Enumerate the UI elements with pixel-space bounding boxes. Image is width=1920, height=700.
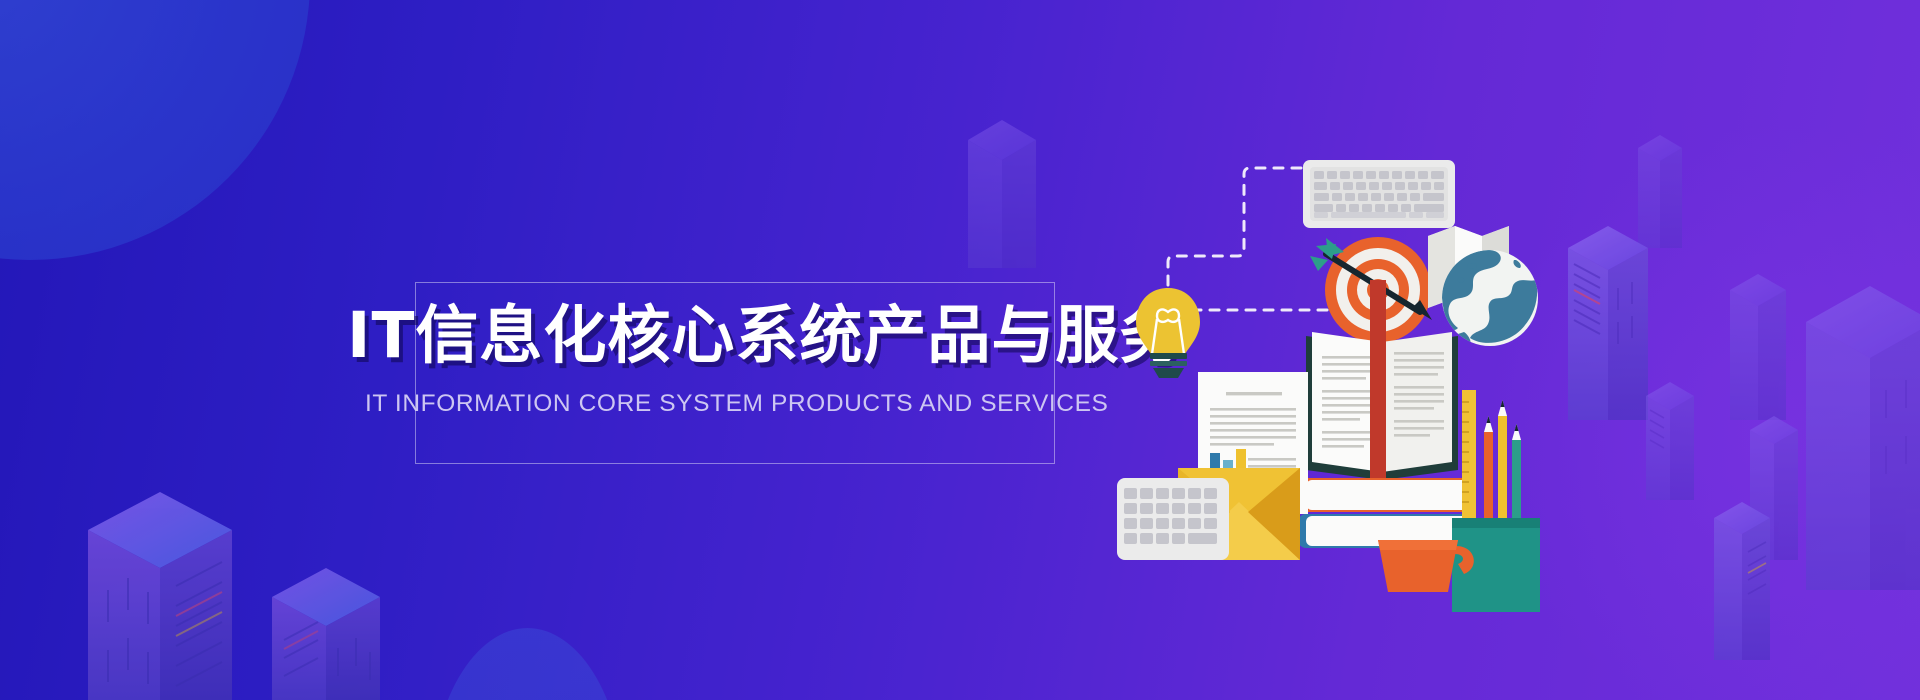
pencil-teal [1512, 424, 1521, 524]
building-left-short [272, 568, 380, 700]
building-right-b [1568, 226, 1648, 420]
open-book-icon [1306, 280, 1458, 492]
building-right-g [1714, 502, 1770, 660]
lightbulb-icon [1136, 288, 1200, 378]
pencil-red [1484, 416, 1493, 524]
keyboard-icon-top [1303, 160, 1455, 228]
it-services-illustration [1120, 140, 1580, 570]
globe-icon [1442, 250, 1538, 346]
pencil-cup-icon [1452, 390, 1540, 612]
hero-banner: IT信息化核心系统产品与服务 IT INFORMATION CORE SYSTE… [0, 0, 1920, 700]
building-right-e [1806, 286, 1920, 590]
book-stack-icon [1298, 478, 1476, 548]
page-subtitle: IT INFORMATION CORE SYSTEM PRODUCTS AND … [365, 390, 1105, 418]
pencil-yellow [1498, 400, 1507, 524]
keyboard-icon-left [1117, 478, 1229, 560]
building-left-tall [88, 492, 232, 700]
page-title: IT信息化核心系统产品与服务 [347, 304, 1117, 367]
building-right-f [1646, 382, 1694, 500]
building-right-c [1730, 274, 1786, 420]
building-mid-slim [968, 120, 1036, 268]
hero-title-block: IT信息化核心系统产品与服务 IT INFORMATION CORE SYSTE… [415, 282, 1055, 464]
building-right-a [1638, 135, 1682, 248]
